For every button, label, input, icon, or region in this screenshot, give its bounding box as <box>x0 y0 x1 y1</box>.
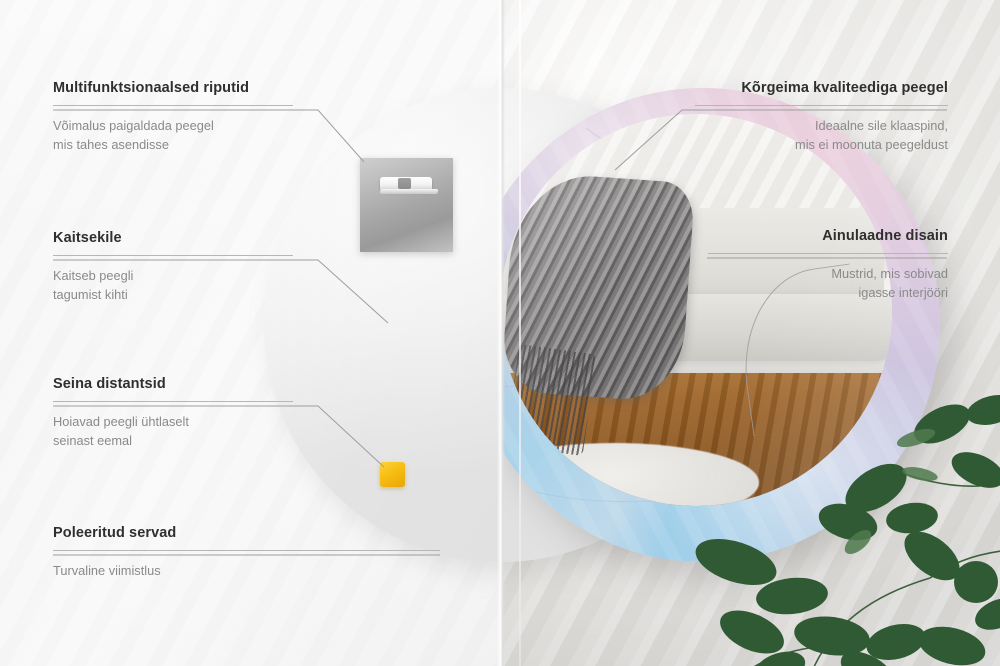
panel-divider <box>497 0 505 666</box>
hanger-bar <box>380 189 439 194</box>
callout-title: Kõrgeima kvaliteediga peegel <box>695 80 948 97</box>
callout-korgeima-kvaliteediga-peegel: Kõrgeima kvaliteediga peegel Ideaalne si… <box>695 80 948 154</box>
callout-description: Ideaalne sile klaaspind, mis ei moonuta … <box>695 117 948 153</box>
infographic-canvas: Multifunktsionaalsed riputid Võimalus pa… <box>0 0 1000 666</box>
callout-description: Mustrid, mis sobivad igasse interjööri <box>708 265 948 301</box>
callout-rule <box>53 255 293 256</box>
callout-description: Kaitseb peegli tagumist kihti <box>53 267 293 303</box>
callout-poleeritud-servad: Poleeritud servad Turvaline viimistlus <box>53 525 440 581</box>
yellow-wall-spacer <box>380 462 405 487</box>
callout-rule <box>53 401 293 402</box>
callout-title: Poleeritud servad <box>53 525 440 542</box>
callout-multifunktsionaalsed-riputid: Multifunktsionaalsed riputid Võimalus pa… <box>53 80 293 154</box>
callout-title: Kaitsekile <box>53 230 293 247</box>
callout-rule <box>53 105 293 106</box>
hanger-bracket-inset <box>360 158 453 252</box>
callout-title: Multifunktsionaalsed riputid <box>53 80 293 97</box>
callout-title: Seina distantsid <box>53 376 293 393</box>
callout-rule <box>695 105 948 106</box>
panel-edge-highlight <box>519 0 521 666</box>
callout-description: Võimalus paigaldada peegel mis tahes ase… <box>53 117 293 153</box>
callout-rule <box>53 550 440 551</box>
callout-ainulaadne-disain: Ainulaadne disain Mustrid, mis sobivad i… <box>708 228 948 302</box>
callout-seina-distantsid: Seina distantsid Hoiavad peegli ühtlasel… <box>53 376 293 450</box>
callout-title: Ainulaadne disain <box>708 228 948 245</box>
foliage-branches <box>680 346 1000 666</box>
callout-description: Hoiavad peegli ühtlaselt seinast eemal <box>53 413 293 449</box>
callout-kaitsekile: Kaitsekile Kaitseb peegli tagumist kihti <box>53 230 293 304</box>
callout-description: Turvaline viimistlus <box>53 562 440 580</box>
callout-rule <box>708 253 948 254</box>
